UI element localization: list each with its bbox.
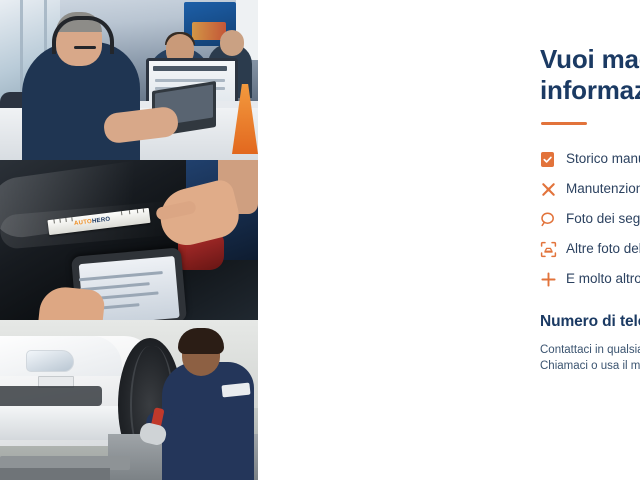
content-panel: Vuoi maggiori informazioni su ? Storico … — [258, 0, 640, 480]
page-title-line-1: Vuoi maggiori — [540, 44, 640, 75]
feature-list: Storico manutentivo Manutenzioni effettu… — [540, 144, 640, 294]
mechanic-hair — [178, 328, 224, 354]
ruler-brand-auto: AUTO — [74, 219, 93, 227]
agent-head-3 — [220, 30, 244, 56]
list-item-label: Altre foto del veicolo — [566, 240, 640, 258]
car-headlight — [26, 350, 74, 372]
photo-column: AUTOHERO — [0, 0, 258, 480]
monitor-toolbar — [153, 66, 227, 71]
page-title-line-2: informazioni su ? — [540, 75, 640, 106]
contact-note-line-2: Chiamaci o usa il modulo di contatto. — [540, 358, 640, 374]
ruler-brand-hero: HERO — [92, 217, 111, 225]
promo-banner: AUTOHERO — [0, 0, 640, 480]
title-divider — [541, 122, 587, 125]
contact-note-line-1: Contattaci in qualsiasi momento per ulte… — [540, 342, 640, 358]
list-item-label: E molto altro ancora — [566, 270, 640, 288]
list-item: Manutenzioni effettuate — [540, 174, 640, 204]
car-lift-base — [0, 468, 110, 480]
page-title: Vuoi maggiori informazioni su ? — [540, 44, 640, 106]
mechanic-wheel-inspection-photo — [0, 320, 258, 480]
car-scan-icon — [540, 238, 566, 260]
autohero-ruler-inspection-photo: AUTOHERO — [0, 160, 258, 320]
list-item: Storico manutentivo — [540, 144, 640, 174]
headset-mic — [74, 46, 96, 49]
list-item: Foto dei segni di usura — [540, 204, 640, 234]
phone-number: Numero di telefono: +390238583852 — [540, 313, 640, 331]
car-grille — [0, 386, 102, 406]
plus-icon — [540, 268, 566, 290]
list-item: Altre foto del veicolo — [540, 234, 640, 264]
document-check-icon — [540, 148, 566, 170]
call-center-agents-photo — [0, 0, 258, 160]
list-item-label: Storico manutentivo — [566, 150, 640, 168]
list-item-label: Manutenzioni effettuate — [566, 180, 640, 198]
magnifier-icon — [540, 208, 566, 230]
list-item: E molto altro ancora — [540, 264, 640, 294]
list-item-label: Foto dei segni di usura — [566, 210, 640, 228]
tools-cross-icon — [540, 178, 566, 200]
